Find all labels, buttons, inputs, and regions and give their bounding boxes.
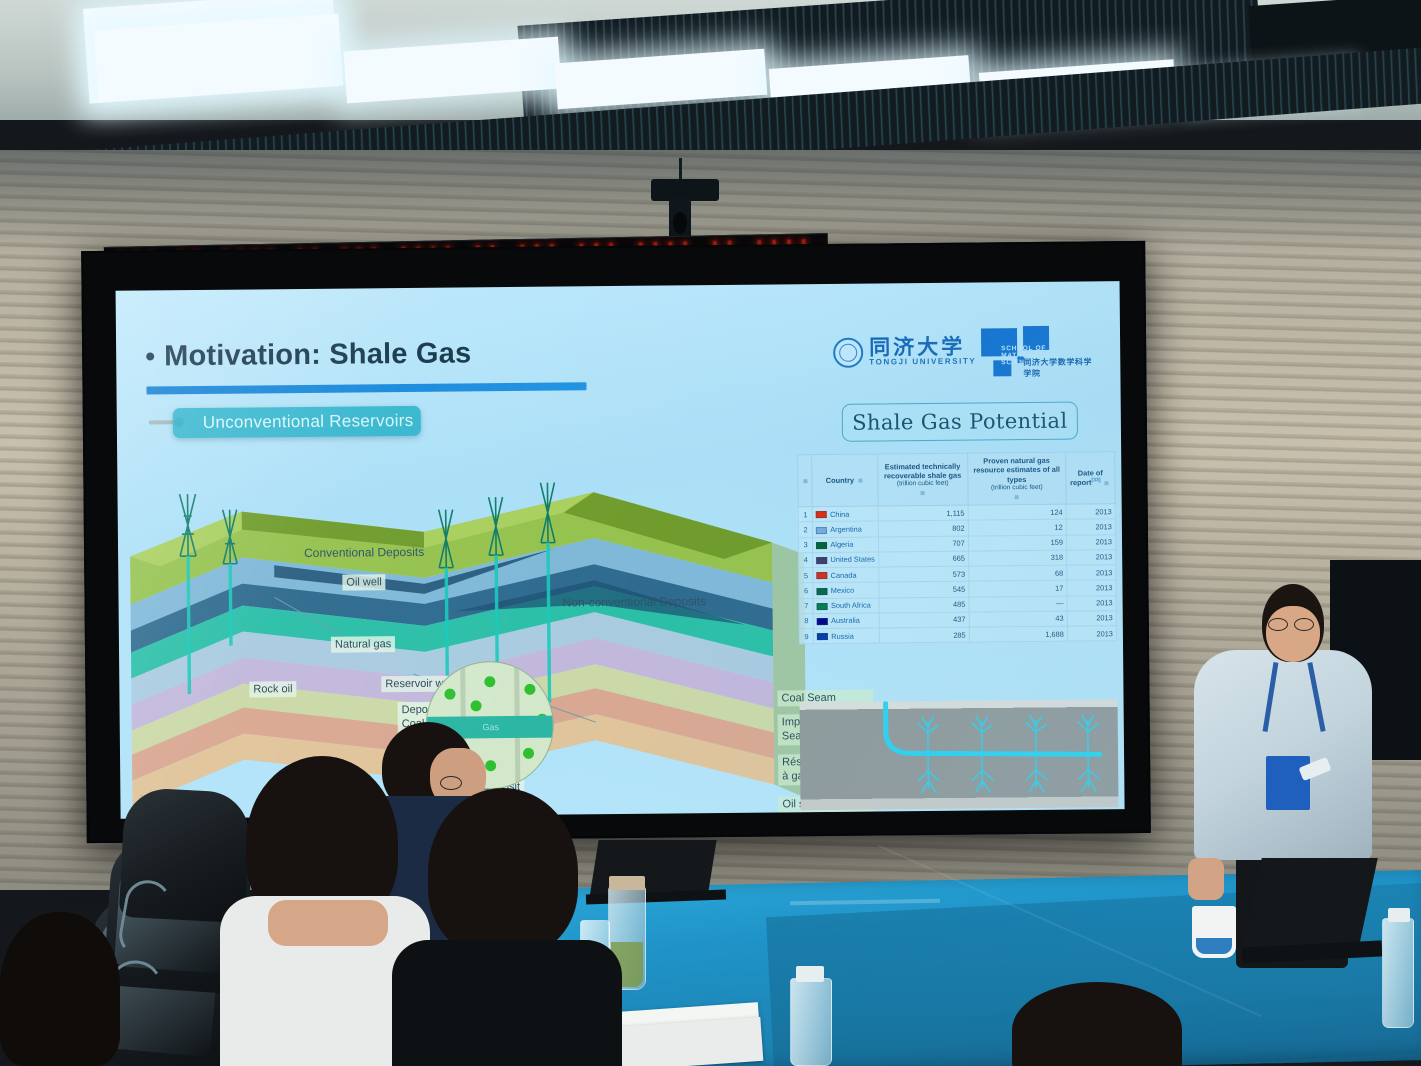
label-natural-gas: Natural gas [331, 636, 395, 653]
cell-rank: 1 [798, 507, 812, 522]
glasses-icon [440, 776, 462, 790]
presenter-badge [1266, 756, 1310, 810]
cell-recoverable: 437 [879, 612, 969, 628]
cell-proven: 124 [968, 504, 1066, 520]
pill-label: Unconventional Reservoirs [173, 406, 421, 438]
gas-pore-icon [523, 748, 534, 759]
cell-recoverable: 802 [878, 521, 968, 537]
cell-date: 2013 [1067, 565, 1116, 581]
country-name: Australia [831, 616, 860, 625]
cell-country: China [812, 506, 878, 522]
audience-neck [268, 900, 388, 946]
laptop-lid [1242, 858, 1378, 950]
unconventional-reservoirs-pill: Unconventional Reservoirs [173, 406, 421, 438]
gas-pore-icon [471, 700, 482, 711]
cell-rank: 8 [799, 614, 813, 629]
country-flag-icon [817, 618, 828, 625]
cell-rank: 7 [799, 598, 813, 613]
th-recoverable-unit: (trillion cubic feet) [880, 480, 965, 489]
cell-date: 2013 [1066, 519, 1115, 535]
cell-country: Russia [814, 628, 880, 644]
water-bottle [1382, 918, 1414, 1028]
cell-country: United States [813, 552, 879, 568]
cell-recoverable: 485 [879, 597, 969, 613]
country-name: United States [830, 555, 874, 564]
gas-pore-icon [524, 684, 535, 695]
cell-date: 2013 [1067, 626, 1116, 642]
table-row: 9Russia2851,6882013 [799, 626, 1116, 644]
projector-body [651, 179, 719, 201]
conference-room-photo: ▮▮▮ ▮▮ ▮▮▮▮ ▮▮ ▮▮▮ ▮▮▮▮ ▮▮ ▮▮▮ ▮▮▮ ▮▮▮▮ … [0, 0, 1421, 1066]
country-name: Argentina [830, 525, 862, 534]
cell-rank: 9 [799, 629, 813, 644]
cell-proven: — [969, 596, 1067, 612]
shale-gas-potential-label: Shale Gas Potential [843, 403, 1077, 441]
cell-proven: 68 [968, 565, 1066, 581]
cell-date: 2013 [1066, 550, 1115, 566]
audience-body [392, 940, 622, 1066]
label-oil-well: Oil well [342, 574, 386, 591]
th-rank [798, 455, 813, 507]
frack-svg [800, 699, 1119, 810]
presentation-slide: Motivation: Shale Gas Unconventional Res… [116, 281, 1125, 819]
country-name: Algeria [830, 540, 853, 549]
cell-proven: 12 [968, 520, 1066, 536]
country-name: China [830, 509, 849, 518]
tongji-name-en: TONGJI UNIVERSITY [869, 357, 976, 367]
cell-rank: 2 [798, 522, 812, 537]
gas-pore-icon [444, 689, 455, 700]
country-flag-icon [817, 572, 828, 579]
country-flag-icon [817, 588, 828, 595]
audience-head [428, 788, 578, 956]
table-header-row: Country Estimated technically recoverabl… [798, 452, 1115, 507]
paper-cup-band [1196, 938, 1232, 954]
cell-country: Australia [814, 613, 880, 629]
glasses-icon [1268, 618, 1288, 631]
label-rock-oil: Rock oil [249, 681, 296, 698]
cell-proven: 318 [968, 550, 1066, 566]
country-name: Russia [831, 631, 854, 640]
th-proven-label: Proven natural gas resource estimates of… [973, 456, 1060, 484]
label-conventional-deposits: Conventional Deposits [300, 544, 428, 563]
cell-date: 2013 [1067, 580, 1116, 596]
sms-name-cn: 同济大学数学科学学院 [1023, 356, 1095, 379]
cell-date: 2013 [1066, 504, 1115, 520]
slide-title: Motivation: Shale Gas [164, 337, 471, 373]
cell-rank: 6 [799, 583, 813, 598]
bottle-cap [1388, 908, 1410, 922]
cell-recoverable: 707 [878, 536, 968, 552]
country-flag-icon [816, 527, 827, 534]
audience-head [0, 912, 120, 1066]
cell-date: 2013 [1067, 611, 1116, 627]
gas-pore-icon [484, 676, 495, 687]
country-name: South Africa [831, 601, 871, 610]
water-bottle [790, 978, 832, 1066]
cell-proven: 17 [969, 581, 1067, 597]
cell-country: Algeria [813, 537, 879, 553]
logo-group: 同济大学 TONGJI UNIVERSITY SCHOOL OF MATHEMA… [833, 325, 1095, 378]
glasses-icon [1294, 618, 1314, 631]
cell-recoverable: 573 [879, 566, 969, 582]
th-date-ref: [33] [1091, 478, 1100, 484]
projection-screen: Motivation: Shale Gas Unconventional Res… [81, 241, 1151, 843]
country-flag-icon [816, 511, 827, 518]
cell-rank: 3 [798, 537, 812, 552]
cell-recoverable: 665 [878, 551, 968, 567]
th-country: Country [812, 454, 878, 507]
th-proven-unit: (trillion cubic feet) [970, 483, 1063, 492]
country-flag-icon [816, 557, 827, 564]
bottle-cap [796, 966, 824, 982]
horizontal-drilling-diagram [800, 699, 1119, 810]
cell-date: 2013 [1067, 595, 1116, 611]
th-date: Date of report[33] [1066, 452, 1116, 505]
th-proven: Proven natural gas resource estimates of… [967, 452, 1066, 505]
country-flag-icon [816, 542, 827, 549]
cell-proven: 43 [969, 611, 1067, 627]
th-recoverable: Estimated technically recoverable shale … [877, 453, 967, 506]
gas-pore-icon [485, 760, 496, 771]
country-flag-icon [817, 603, 828, 610]
shale-gas-reserves-table: Country Estimated technically recoverabl… [797, 451, 1117, 645]
tumbler-cap [609, 876, 645, 890]
projector-lens-icon [673, 212, 687, 234]
tongji-seal-icon [833, 338, 863, 368]
cell-date: 2013 [1066, 534, 1115, 550]
country-flag-icon [817, 633, 828, 640]
cell-recoverable: 1,115 [878, 505, 968, 521]
shale-gas-potential-heading: Shale Gas Potential [842, 402, 1078, 442]
cell-rank: 5 [799, 568, 813, 583]
cell-rank: 4 [799, 553, 813, 568]
country-name: Canada [831, 570, 857, 579]
th-country-label: Country [826, 476, 854, 485]
country-name: Mexico [831, 586, 855, 595]
presenter-hand [1188, 858, 1224, 900]
presenter-shirt [1194, 650, 1372, 860]
cell-country: Mexico [813, 582, 879, 598]
presenter-face [1266, 606, 1320, 662]
label-nonconventional-deposits: Non-conventional Deposits [559, 593, 711, 612]
cell-recoverable: 545 [879, 582, 969, 598]
cell-country: Argentina [813, 521, 879, 537]
cell-recoverable: 285 [879, 627, 969, 643]
cell-country: South Africa [813, 598, 879, 614]
cell-proven: 1,688 [969, 626, 1067, 642]
table-body: 1China1,11512420132Argentina8021220133Al… [798, 504, 1116, 644]
cell-country: Canada [813, 567, 879, 583]
cell-proven: 159 [968, 535, 1066, 551]
title-underline-rule [146, 382, 586, 394]
title-bullet-icon [146, 352, 154, 360]
th-recoverable-label: Estimated technically recoverable shale … [884, 461, 961, 480]
